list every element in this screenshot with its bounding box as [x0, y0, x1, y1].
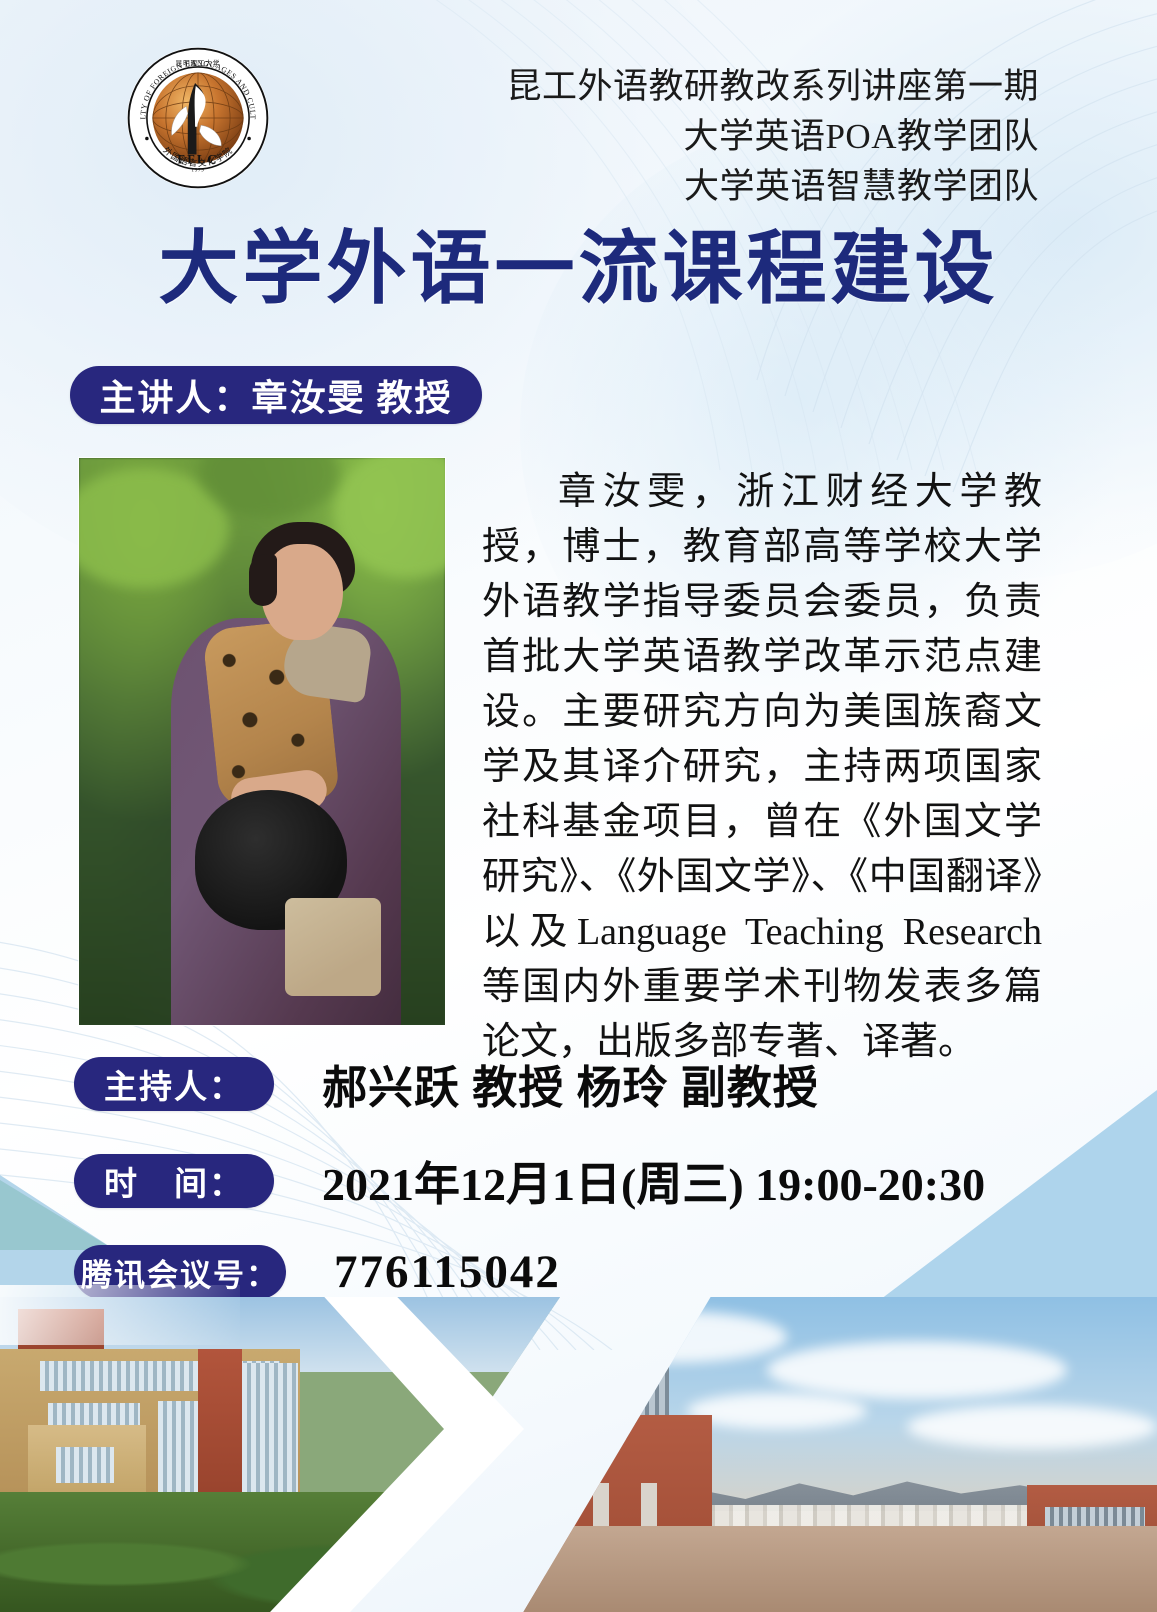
left-photo-window-band-4 — [56, 1447, 114, 1483]
right-photo-cloud-3 — [907, 1405, 1157, 1449]
left-photo-greenery — [0, 1492, 560, 1612]
header-block: 昆工外语教研教改系列讲座第一期 大学英语POA教学团队 大学英语智慧教学团队 — [506, 62, 1039, 212]
host-value: 郝兴跃 教授 杨玲 副教授 — [322, 1051, 819, 1116]
host-row: 主持人： 郝兴跃 教授 杨玲 副教授 — [74, 1051, 819, 1116]
right-photo-cloud-2 — [767, 1341, 1067, 1399]
library-sign-text: 图书馆 — [559, 1457, 604, 1476]
right-photo-tower-cap — [557, 1331, 661, 1357]
right-photo-plaza — [437, 1526, 1157, 1612]
speaker-badge: 主讲人：章汝雯 教授 — [70, 366, 482, 424]
speaker-bio: 章汝雯，浙江财经大学教授，博士，教育部高等学校大学外语教学指导委员会委员，负责首… — [482, 465, 1042, 1070]
campus-photo-right: 图书馆 — [437, 1297, 1157, 1612]
portrait-hair-side — [249, 554, 277, 606]
host-label-badge: 主持人： — [74, 1057, 274, 1111]
header-line-1: 昆工外语教研教改系列讲座第一期 — [506, 62, 1039, 112]
university-faculty-logo-icon: FACULTY OF FOREIGN LANGUAGES AND CULTURE… — [125, 45, 271, 191]
right-photo-cloud-1 — [557, 1311, 787, 1363]
header-line-2: 大学英语POA教学团队 — [506, 112, 1039, 162]
svg-text:FFLC: FFLC — [177, 152, 218, 166]
time-row: 时 间： 2021年12月1日(周三) 19:00-20:30 — [74, 1148, 985, 1214]
right-photo-cloud-4 — [687, 1393, 867, 1429]
portrait-handbag — [285, 898, 381, 996]
speaker-portrait — [79, 458, 445, 1025]
svg-text:昆明理工大学: 昆明理工大学 — [176, 58, 221, 67]
meeting-id-value[interactable]: 776115042 — [334, 1245, 561, 1299]
time-label-badge: 时 间： — [74, 1154, 274, 1208]
svg-text:1979: 1979 — [191, 167, 204, 173]
page-title: 大学外语一流课程建设 — [0, 228, 1157, 312]
lecture-poster: FACULTY OF FOREIGN LANGUAGES AND CULTURE… — [0, 0, 1157, 1612]
corner-light-streak — [0, 1285, 240, 1345]
time-value: 2021年12月1日(周三) 19:00-20:30 — [322, 1148, 985, 1214]
header-line-3: 大学英语智慧教学团队 — [506, 162, 1039, 212]
